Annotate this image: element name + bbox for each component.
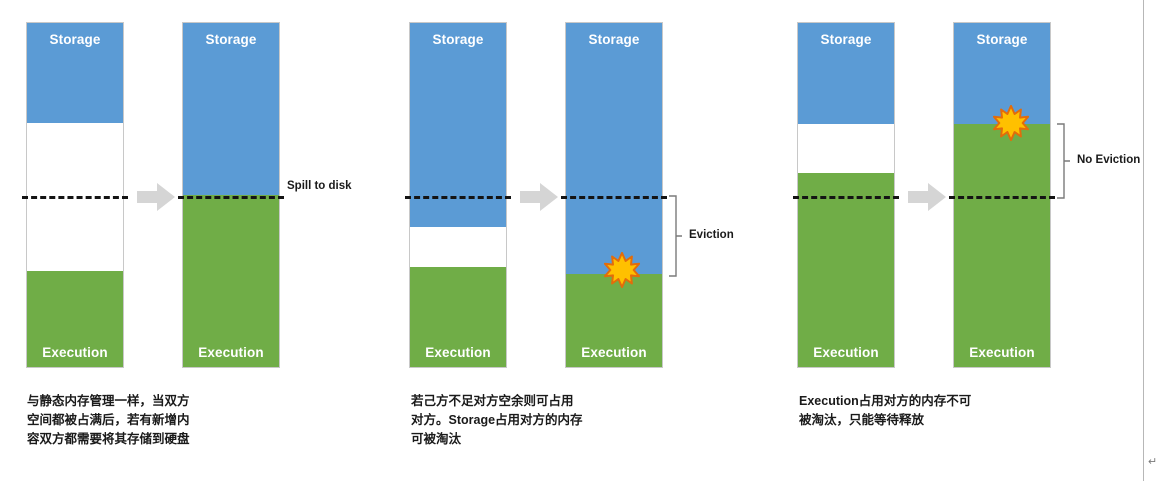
right-arrow-icon: [137, 181, 175, 213]
panel-3-bar-before: Storage Execution: [797, 22, 895, 368]
right-arrow-icon: [908, 181, 946, 213]
execution-segment: Execution: [954, 124, 1050, 367]
panel-3-no-eviction-bracket: [1055, 122, 1075, 200]
storage-segment: Storage: [183, 23, 279, 197]
spill-to-disk-annotation: Spill to disk: [287, 180, 352, 192]
storage-label: Storage: [954, 32, 1050, 47]
storage-label: Storage: [798, 32, 894, 47]
execution-label: Execution: [27, 345, 123, 360]
panel-2-eviction-bracket: [667, 194, 687, 278]
burst-star-icon: [993, 105, 1029, 141]
panel-2-before-boundary-line: [405, 196, 511, 199]
storage-segment: Storage: [27, 23, 123, 123]
panel-1-caption: 与静态内存管理一样，当双方 空间都被占满后，若有新增内 容双方都需要将其存储到硬…: [27, 392, 257, 449]
storage-label: Storage: [410, 32, 506, 47]
execution-segment: Execution: [27, 271, 123, 367]
panel-2-bar-after: Storage Execution: [565, 22, 663, 368]
execution-label: Execution: [954, 345, 1050, 360]
storage-segment: Storage: [566, 23, 662, 276]
storage-label: Storage: [27, 32, 123, 47]
right-arrow-icon: [520, 181, 558, 213]
document-right-edge: [1143, 0, 1144, 481]
panel-2-after-boundary-line: [561, 196, 667, 199]
storage-segment: Storage: [798, 23, 894, 124]
paragraph-mark-icon: ↵: [1148, 455, 1157, 468]
panel-3-after-boundary-line: [949, 196, 1055, 199]
execution-segment: Execution: [798, 173, 894, 367]
execution-label: Execution: [798, 345, 894, 360]
panel-1-before-boundary-line: [22, 196, 128, 199]
execution-label: Execution: [183, 345, 279, 360]
panel-1-bar-after: Storage Execution: [182, 22, 280, 368]
storage-label: Storage: [183, 32, 279, 47]
execution-label: Execution: [566, 345, 662, 360]
storage-label: Storage: [566, 32, 662, 47]
panel-2-bar-before: Storage Execution: [409, 22, 507, 368]
execution-segment: Execution: [410, 267, 506, 367]
panel-3-caption: Execution占用对方的内存不可 被淘汰，只能等待释放: [799, 392, 1049, 430]
execution-label: Execution: [410, 345, 506, 360]
burst-star-icon: [604, 252, 640, 288]
panel-3-bar-after: Storage Execution: [953, 22, 1051, 368]
no-eviction-label: No Eviction: [1077, 154, 1140, 166]
panel-1-after-boundary-line: [178, 196, 284, 199]
panel-1-bar-before: Storage Execution: [26, 22, 124, 368]
panel-2-caption: 若己方不足对方空余则可占用 对方。Storage占用对方的内存 可被淘汰: [411, 392, 646, 449]
diagram-canvas: Storage Execution Storage Execution Spil…: [0, 0, 1161, 481]
eviction-label: Eviction: [689, 229, 734, 241]
panel-3-before-boundary-line: [793, 196, 899, 199]
execution-segment: Execution: [183, 195, 279, 367]
